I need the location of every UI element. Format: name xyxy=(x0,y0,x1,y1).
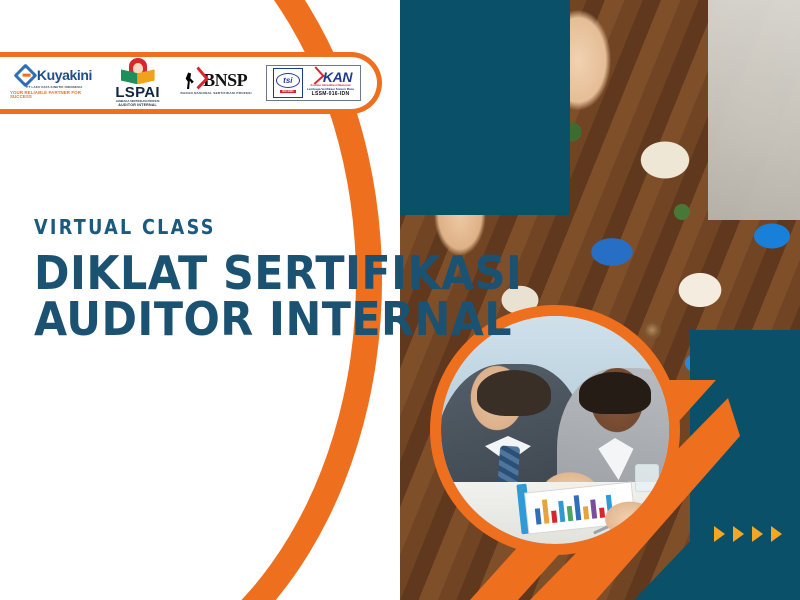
kuyakini-lockup: Kuyakini xyxy=(17,67,92,84)
kicker-text: VIRTUAL CLASS xyxy=(34,215,496,239)
writing-hand xyxy=(597,496,663,542)
tsi-iso-label: ISO 9001 xyxy=(280,90,296,93)
lspai-subtitle-2: AUDITOR INTERNAL xyxy=(118,104,157,108)
logo-kan: tsi ISO 9001 KAN Komite Akreditasi Nasio… xyxy=(266,65,361,101)
promotional-banner: Kuyakini PT LAKU DAYA KINETIK INDONESIA … xyxy=(0,0,800,600)
bnsp-wordmark: BNSP xyxy=(203,71,247,89)
water-glass xyxy=(635,464,659,492)
logo-bnsp: BNSP BADAN NASIONAL SERTIFIKASI PROFESI xyxy=(176,70,256,95)
chevron-right-icon xyxy=(752,526,763,542)
headline-line-2: AUDITOR INTERNAL xyxy=(34,297,522,343)
chevron-right-icon xyxy=(771,526,782,542)
lspai-book-icon xyxy=(121,58,155,84)
teal-wedge-top xyxy=(400,0,570,215)
kan-headline-row: KAN xyxy=(309,69,352,84)
chevron-right-icon xyxy=(714,526,725,542)
kuyakini-diamond-icon xyxy=(13,63,37,87)
headline-line-1: DIKLAT SERTIFIKASI xyxy=(34,251,522,297)
arrow-indicator-group xyxy=(714,526,782,542)
chevron-right-icon xyxy=(733,526,744,542)
logo-lspai: LSPAI LEMBAGA SERTIFIKASI PROFESI AUDITO… xyxy=(109,58,166,107)
kan-accreditation-code: LSSM-016-IDN xyxy=(312,92,350,97)
lspai-wordmark: LSPAI xyxy=(115,85,160,100)
bnsp-lockup: BNSP xyxy=(185,70,247,90)
person-right-hair xyxy=(579,372,651,414)
tsi-certification-mark: tsi ISO 9001 xyxy=(273,68,303,98)
headline-block: VIRTUAL CLASS DIKLAT SERTIFIKASI AUDITOR… xyxy=(34,215,559,342)
kan-text-block: KAN Komite Akreditasi Nasional Lembaga V… xyxy=(307,69,354,96)
kan-lockup: tsi ISO 9001 KAN Komite Akreditasi Nasio… xyxy=(273,68,354,98)
kuyakini-tagline: YOUR RELIABLE PARTNER FOR SUCCESS xyxy=(10,91,99,100)
floor-area xyxy=(708,0,800,220)
kan-wordmark: KAN xyxy=(323,70,352,84)
bnsp-subtitle: BADAN NASIONAL SERTIFIKASI PROFESI xyxy=(181,92,252,95)
person-left-hair xyxy=(477,370,551,416)
kuyakini-wordmark: Kuyakini xyxy=(37,68,92,82)
logo-kuyakini: Kuyakini PT LAKU DAYA KINETIK INDONESIA … xyxy=(10,67,99,100)
accreditation-logo-bar: Kuyakini PT LAKU DAYA KINETIK INDONESIA … xyxy=(0,52,382,114)
inset-photo-scene xyxy=(441,316,669,544)
tsi-wordmark: tsi xyxy=(276,73,300,88)
bnsp-figure-checkmark-icon xyxy=(185,70,201,90)
kuyakini-company-name: PT LAKU DAYA KINETIK INDONESIA xyxy=(26,86,82,89)
page-title: DIKLAT SERTIFIKASI AUDITOR INTERNAL xyxy=(34,251,522,342)
kan-check-icon xyxy=(306,67,324,85)
